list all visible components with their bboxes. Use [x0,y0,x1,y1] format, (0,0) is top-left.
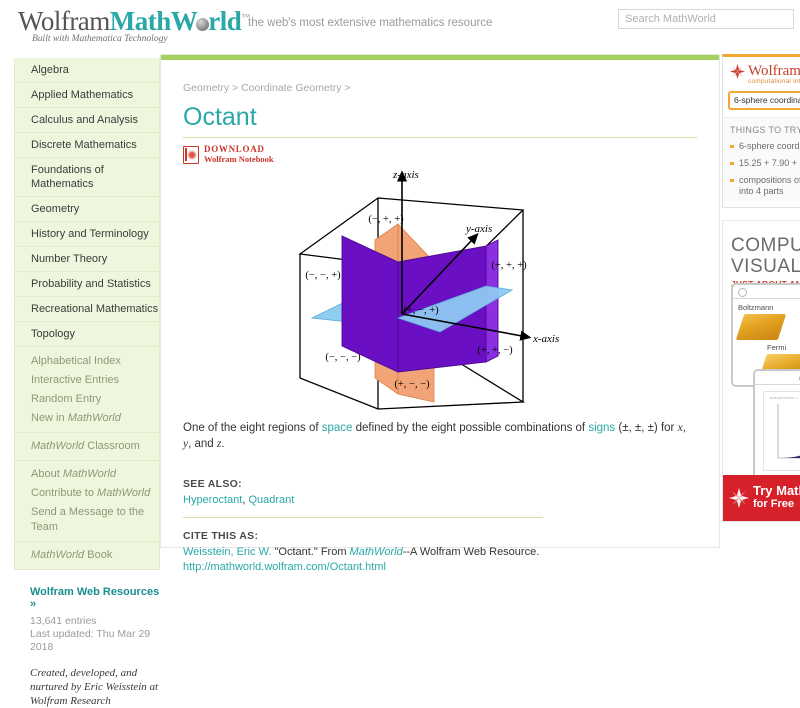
citation-text: Weisstein, Eric W. "Octant." From MathWo… [183,545,697,575]
sidebar-item-number-theory[interactable]: Number Theory [15,246,159,271]
download-label-secondary: Wolfram Notebook [204,154,274,164]
sidebar-item-history-and-terminology[interactable]: History and Terminology [15,221,159,246]
ad-window-titlebar [733,285,800,299]
things-to-try-block: THINGS TO TRY: 6-sphere coordinates 15.2… [723,117,800,201]
download-labels: DOWNLOAD Wolfram Notebook [204,145,274,164]
sidebar-item-new-in-mathworld[interactable]: New in MathWorld [15,409,159,428]
sidebar-item-probability-and-statistics[interactable]: Probability and Statistics [15,271,159,296]
cite-section: CITE THIS AS: Weisstein, Eric W. "Octant… [183,530,697,575]
ad-plot-svg: UV [764,392,800,470]
body-mid: defined by the eight possible combinatio… [352,422,588,434]
download-notebook-button[interactable]: DOWNLOAD Wolfram Notebook [183,145,719,164]
sidebar-item-calculus-and-analysis[interactable]: Calculus and Analysis [15,107,159,132]
x-axis-label: x-axis [532,333,559,345]
link-quadrant[interactable]: Quadrant [248,494,294,506]
breadcrumb[interactable]: Geometry > Coordinate Geometry > [161,60,719,94]
octant-label: (+, +, +) [491,260,527,271]
sidebar-item-discrete-mathematics[interactable]: Discrete Mathematics [15,132,159,157]
site-header: WolframMathWrld™ Built with Mathematica … [0,0,800,48]
ad-cta-line-2: for Free [753,498,800,511]
web-resources-link[interactable]: Wolfram Web Resources » [30,586,160,610]
mathworld-italic: MathWorld [63,468,116,480]
y-axis-label: y-axis [465,223,492,235]
try-item-0[interactable]: 6-sphere coordinates [730,141,800,152]
ad-title-compute: COMPUTE [723,221,800,256]
site-credit: Created, developed, and nurtured by Eric… [14,666,160,708]
mathworld-italic: MathWorld [68,412,121,424]
sidebar-item-alphabetical-index[interactable]: Alphabetical Index [15,352,159,371]
sidebar-item-about-mathworld[interactable]: About MathWorld [15,465,159,484]
logo-world-pre: W [171,6,198,36]
body-pre: One of the eight regions of [183,422,322,434]
try-item-2[interactable]: compositions of 8 into 4 parts [730,175,800,197]
wolfram-alpha-name: Wolfram [748,64,800,79]
ad-window-front: temperature = 3000 K UV [753,369,800,485]
ad-cta-content: Try Mathematica for Free [723,475,800,511]
notebook-icon [183,146,199,164]
octant-label: (−, −, −) [325,352,361,363]
link-space[interactable]: space [322,422,353,434]
wolfram-alpha-query-input[interactable]: 6-sphere coordinates [728,91,800,110]
mathworld-italic: MathWorld [31,440,84,452]
octant-label: (+, −, −) [394,379,430,390]
z-axis-label: z-axis [392,169,419,181]
nav-group-about: About MathWorld Contribute to MathWorld … [15,460,159,541]
search-box[interactable] [618,9,794,29]
wolfram-alpha-widget: Wolfram computational intelligence 6-sph… [722,54,800,208]
try-item-1[interactable]: 15.25 + 7.90 + 2 [730,158,800,169]
ad-label-boltzmann: Boltzmann [733,299,800,312]
nav-group-utility: Alphabetical Index Interactive Entries R… [15,346,159,432]
spikey-icon [730,64,745,79]
see-also-divider [183,517,543,518]
mathworld-italic: MathWorld [31,549,84,561]
logo-wordmark: WolframMathWrld™ [18,2,250,36]
period: . [221,438,224,450]
ad-title-visualize: VISUALIZE [723,256,800,277]
sidebar-item-topology[interactable]: Topology [15,321,159,346]
search-input[interactable] [619,10,793,28]
title-divider [183,137,697,138]
octant-label: (+, +, −) [477,345,513,356]
right-sidebar: Wolfram computational intelligence 6-sph… [722,54,800,522]
see-also-links: Hyperoctant, Quadrant [183,493,697,508]
sidebar-item-mathworld-book[interactable]: MathWorld Book [15,546,159,565]
things-to-try-heading: THINGS TO TRY: [730,125,800,135]
sidebar-item-send-a-message[interactable]: Send a Message to the Team [15,503,159,537]
sidebar-item-random-entry[interactable]: Random Entry [15,390,159,409]
octant-label: (−, +, +) [368,214,404,225]
body-post: (±, ±, ±) for [615,422,677,434]
ad-cta-bar[interactable]: Try Mathematica for Free [723,475,800,521]
logo-math-text: Math [110,6,171,36]
sidebar-item-applied-mathematics[interactable]: Applied Mathematics [15,82,159,107]
octant-diagram-svg: z-axis x-axis y-axis (−, +, +) (+, +, +)… [290,166,590,414]
sidebar-item-foundations-of-mathematics[interactable]: Foundations of Mathematics [15,157,159,196]
octant-figure: z-axis x-axis y-axis (−, +, +) (+, +, +)… [161,166,719,414]
site-tagline: the web's most extensive mathematics res… [248,17,492,29]
sidebar-item-contribute-to-mathworld[interactable]: Contribute to MathWorld [15,484,159,503]
sidebar-item-recreational-mathematics[interactable]: Recreational Mathematics [15,296,159,321]
ad-plot-caption: temperature = 3000 K [770,395,800,400]
last-updated: Last updated: Thu Mar 29 2018 [30,628,160,654]
wolfram-web-resources: Wolfram Web Resources » 13,641 entries L… [14,586,160,654]
and-text: , and [188,438,217,450]
cite-url[interactable]: http://mathworld.wolfram.com/Octant.html [183,561,386,573]
ad-surface-plot-1 [736,314,786,340]
main-content-panel: Geometry > Coordinate Geometry > Octant … [160,54,720,548]
cite-source[interactable]: MathWorld [350,546,403,558]
wolfram-alpha-subtitle: computational intelligence [723,78,800,85]
link-signs[interactable]: signs [588,422,615,434]
entries-count: 13,641 entries [30,615,160,628]
nav-block: Algebra Applied Mathematics Calculus and… [14,58,160,570]
link-hyperoctant[interactable]: Hyperoctant [183,494,242,506]
left-sidebar: Algebra Applied Mathematics Calculus and… [14,58,160,708]
sidebar-item-interactive-entries[interactable]: Interactive Entries [15,371,159,390]
ad-label-fermi: Fermi [733,340,800,352]
sidebar-item-algebra[interactable]: Algebra [15,58,159,82]
advertisement-banner[interactable]: COMPUTE VISUALIZE JUST ABOUT ANYTHING Bo… [722,220,800,522]
site-logo[interactable]: WolframMathWrld™ Built with Mathematica … [18,2,250,44]
ad-cta-text: Try Mathematica for Free [753,484,800,511]
ad-window-titlebar [755,371,800,385]
see-also-section: SEE ALSO: Hyperoctant, Quadrant [183,478,697,508]
definition-paragraph: One of the eight regions of space define… [183,420,697,452]
cite-heading: CITE THIS AS: [183,530,697,542]
sidebar-item-mathworld-classroom[interactable]: MathWorld Classroom [15,437,159,456]
mathworld-italic: MathWorld [97,487,150,499]
ad-plot-panel: temperature = 3000 K UV [763,391,800,471]
sidebar-item-geometry[interactable]: Geometry [15,196,159,221]
nav-group-classroom: MathWorld Classroom [15,432,159,460]
logo-wolfram-text: Wolfram [18,6,110,36]
download-label-primary: DOWNLOAD [204,145,274,154]
spikey-icon [729,488,749,508]
cite-author[interactable]: Weisstein, Eric W. [183,546,271,558]
logo-world-post: rld [208,6,241,36]
cite-tail: --A Wolfram Web Resource. [403,546,540,558]
octant-label: (+, −, +) [403,305,439,316]
nav-group-book: MathWorld Book [15,541,159,569]
octant-label: (−, −, +) [305,270,341,281]
ad-cta-line-1: Try Mathematica [753,484,800,498]
cite-quoted: "Octant." From [271,546,349,558]
page-title: Octant [161,94,719,132]
comma-1: , [683,422,686,434]
wolfram-alpha-logo: Wolfram [723,57,800,79]
see-also-heading: SEE ALSO: [183,478,697,490]
